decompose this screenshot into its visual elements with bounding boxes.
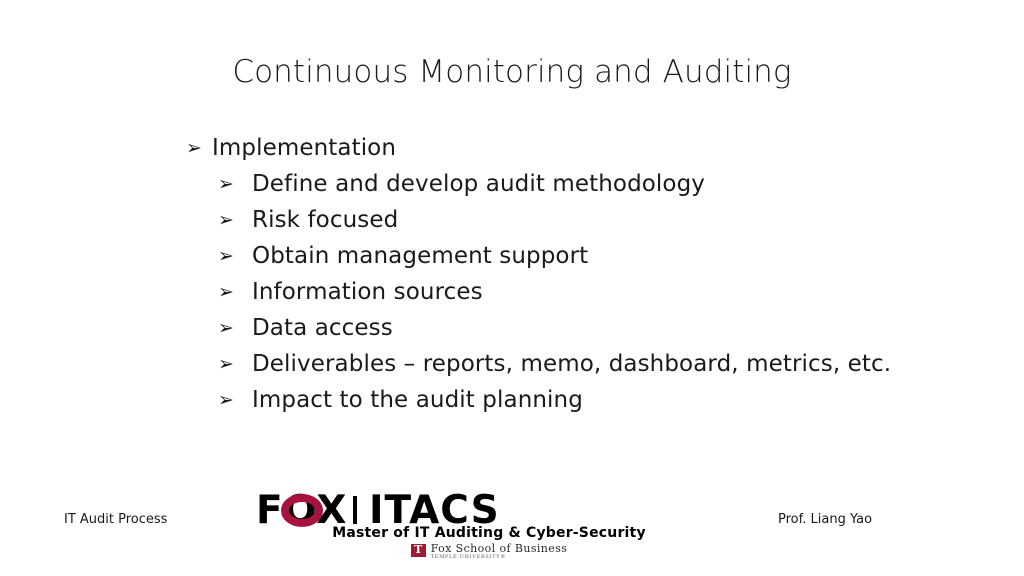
bullet-item: ➢Implementation xyxy=(186,130,986,166)
logo-wordmark: FOX ITACS xyxy=(256,493,722,527)
bullet-text: Deliverables – reports, memo, dashboard,… xyxy=(252,346,891,382)
bullet-item: ➢Information sources xyxy=(186,274,986,310)
footer-left-label: IT Audit Process xyxy=(64,512,167,527)
bullet-item: ➢Impact to the audit planning xyxy=(186,382,986,418)
footer-right-label: Prof. Liang Yao xyxy=(778,512,872,527)
bullet-arrow-icon: ➢ xyxy=(218,346,252,382)
bullet-item: ➢Obtain management support xyxy=(186,238,986,274)
bullet-arrow-icon: ➢ xyxy=(186,130,212,166)
logo-sublogo: Fox School of Business TEMPLE UNIVERSITY… xyxy=(256,543,722,563)
logo-divider-bar xyxy=(353,496,357,524)
bullet-text: Obtain management support xyxy=(252,238,588,274)
logo-tagline-svg: Master of IT Auditing & Cyber-Security xyxy=(259,524,719,540)
logo-text-itacs: ITACS xyxy=(369,493,500,527)
bullet-item: ➢Deliverables – reports, memo, dashboard… xyxy=(186,346,986,382)
bullet-item: ➢Risk focused xyxy=(186,202,986,238)
logo-university-name: TEMPLE UNIVERSITY® xyxy=(431,555,568,560)
slide-canvas: Continuous Monitoring and Auditing ➢Impl… xyxy=(0,0,1024,576)
logo-school-name: Fox School of Business xyxy=(431,543,568,554)
bullet-arrow-icon: ➢ xyxy=(218,238,252,274)
bullet-text: Risk focused xyxy=(252,202,398,238)
bullet-text: Define and develop audit methodology xyxy=(252,166,705,202)
logo-wordmark-svg: FOX ITACS xyxy=(256,493,722,527)
logo-tagline: Master of IT Auditing & Cyber-Security xyxy=(256,524,722,540)
bullet-arrow-icon: ➢ xyxy=(218,310,252,346)
bullet-item: ➢Define and develop audit methodology xyxy=(186,166,986,202)
page-title: Continuous Monitoring and Auditing xyxy=(0,52,1024,92)
bullet-text: Implementation xyxy=(212,130,396,166)
bullet-text: Data access xyxy=(252,310,393,346)
bullet-arrow-icon: ➢ xyxy=(218,166,252,202)
bullet-text: Information sources xyxy=(252,274,483,310)
bullet-list: ➢Implementation➢Define and develop audit… xyxy=(186,130,986,418)
bullet-arrow-icon: ➢ xyxy=(218,202,252,238)
bullet-text: Impact to the audit planning xyxy=(252,382,583,418)
bullet-arrow-icon: ➢ xyxy=(218,382,252,418)
temple-t-badge xyxy=(411,544,426,557)
fox-itacs-logo: FOX ITACS Master of IT Auditing & Cyber-… xyxy=(256,493,722,573)
bullet-arrow-icon: ➢ xyxy=(218,274,252,310)
logo-tagline-text: Master of IT Auditing & Cyber-Security xyxy=(332,525,646,540)
bullet-item: ➢Data access xyxy=(186,310,986,346)
